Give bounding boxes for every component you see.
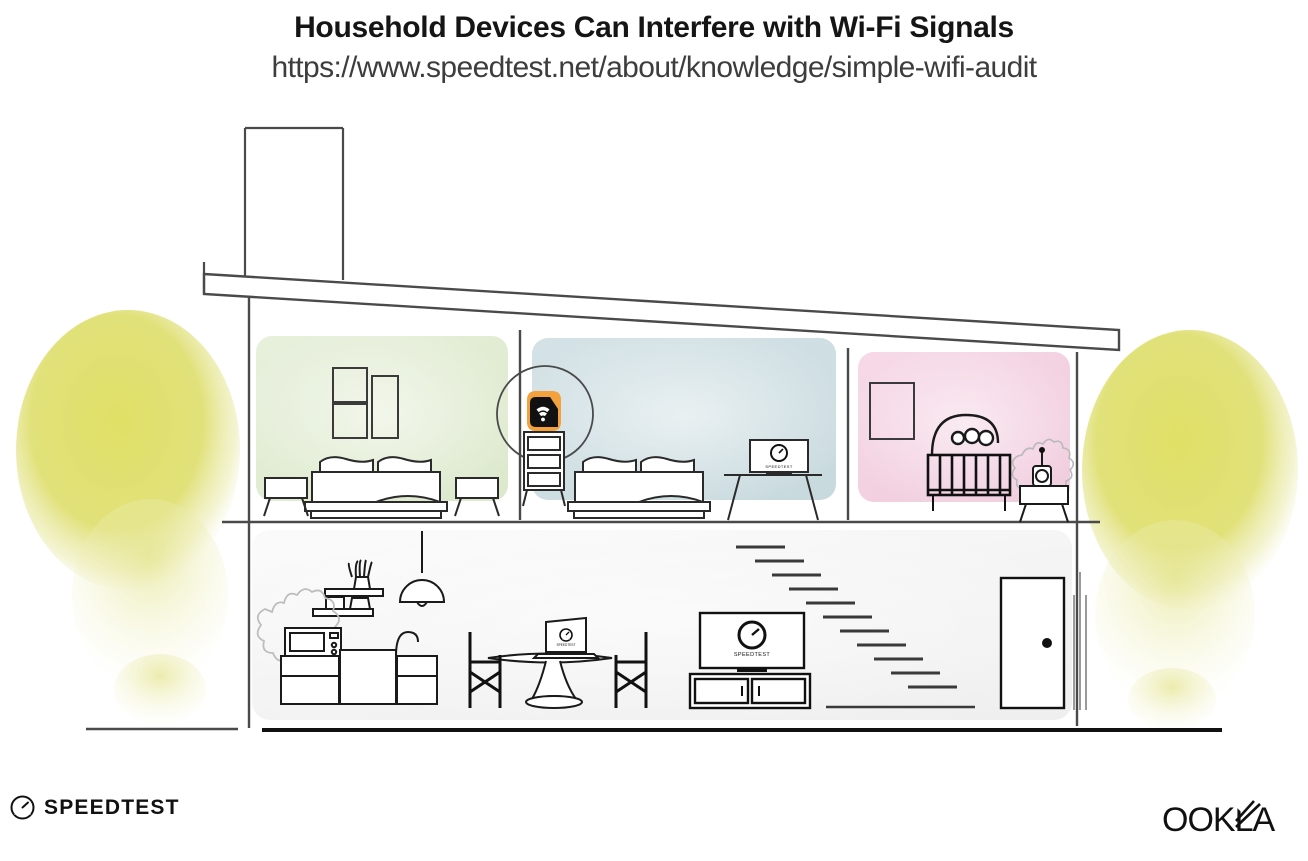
house-cross-section-illustration: SPEEDTEST	[0, 0, 1308, 861]
footer: SPEEDTEST OOKLA	[0, 795, 1308, 845]
microwave	[285, 628, 341, 656]
room-living-kitchen: SPEEDTEST SPEEDTE	[252, 530, 1086, 720]
speedtest-logo: SPEEDTEST	[10, 795, 180, 820]
crib	[928, 455, 1010, 511]
media-console	[690, 674, 810, 708]
chimney	[245, 128, 343, 280]
nightstand-right	[455, 478, 499, 516]
source-url: https://www.speedtest.net/about/knowledg…	[0, 50, 1308, 86]
wifi-router	[527, 391, 561, 431]
screen-logo-text: SPEEDTEST	[734, 652, 771, 658]
nightstand-left	[264, 478, 308, 516]
ground-lines	[86, 729, 1222, 730]
desktop-monitor: SPEEDTEST	[750, 440, 808, 476]
front-door	[1001, 578, 1064, 708]
speedtest-logo-text: SPEEDTEST	[44, 796, 180, 820]
tree-left	[16, 310, 240, 726]
screen-logo-text: SPEEDTEST	[557, 643, 576, 647]
tree-right	[1082, 330, 1298, 732]
ookla-logo: OOKLA	[1162, 791, 1308, 847]
speedometer-icon	[10, 795, 35, 820]
screen-logo-text: SPEEDTEST	[765, 464, 793, 469]
nursery-nightstand	[1020, 486, 1068, 522]
room-nursery-pink	[858, 352, 1073, 522]
living-room-tv: SPEEDTEST	[700, 613, 804, 672]
ookla-logo-mark: OOKLA	[1162, 791, 1308, 847]
heading-block: Household Devices Can Interfere with Wi-…	[0, 0, 1308, 86]
door-knob-icon	[1042, 638, 1052, 648]
page-title: Household Devices Can Interfere with Wi-…	[0, 10, 1308, 46]
illustration-stage: Household Devices Can Interfere with Wi-…	[0, 0, 1308, 861]
room-bedroom-green	[256, 336, 508, 518]
room-bedroom-blue: SPEEDTEST	[497, 338, 836, 520]
